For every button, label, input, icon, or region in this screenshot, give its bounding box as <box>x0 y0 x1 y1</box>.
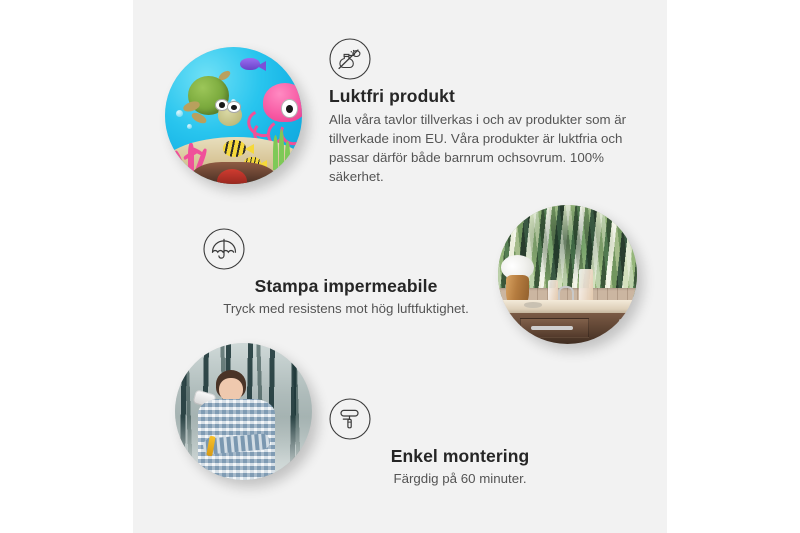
feature-easy-mounting: Enkel montering Färgdig på 60 minuter. <box>329 398 591 489</box>
bathroom-medallion <box>498 205 637 344</box>
bottle <box>579 269 593 302</box>
turtle-illustration <box>183 76 243 131</box>
soap-dish <box>524 302 542 308</box>
feature-title: Luktfri produkt <box>329 86 631 108</box>
paint-roller-icon <box>329 398 591 440</box>
woman-illustration <box>197 370 276 480</box>
forest-artwork <box>175 343 312 480</box>
forest-medallion <box>175 343 312 480</box>
no-fragrance-icon <box>329 38 631 80</box>
seaweed-illustration <box>272 129 291 170</box>
turtle-eye <box>227 101 240 113</box>
octopus-eye <box>281 99 298 118</box>
feature-title: Enkel montering <box>329 446 591 468</box>
bottle <box>548 280 558 301</box>
fish-icon <box>240 58 259 70</box>
vanity-cabinet <box>506 313 637 344</box>
bathroom-artwork <box>498 205 637 344</box>
feature-body: Alla våra tavlor tillverkas i och av pro… <box>329 111 631 187</box>
feature-body: Tryck med resistens mot hög luftfuktighe… <box>203 300 489 319</box>
ocean-medallion <box>165 47 302 184</box>
ocean-artwork <box>165 47 302 184</box>
umbrella-icon <box>203 228 489 270</box>
door-handle <box>619 319 623 333</box>
feature-waterproof: Stampa impermeabile Tryck med resistens … <box>203 228 489 319</box>
product-feature-page: Luktfri produkt Alla våra tavlor tillver… <box>0 0 800 533</box>
feature-title: Stampa impermeabile <box>203 276 489 298</box>
feature-panel: Luktfri produkt Alla våra tavlor tillver… <box>133 0 667 533</box>
feature-odor-free: Luktfri produkt Alla våra tavlor tillver… <box>329 38 631 186</box>
bubble-icon <box>176 110 183 117</box>
drawer-handle <box>531 326 573 330</box>
feature-body: Färgdig på 60 minuter. <box>329 470 591 489</box>
fish-icon <box>223 140 246 156</box>
